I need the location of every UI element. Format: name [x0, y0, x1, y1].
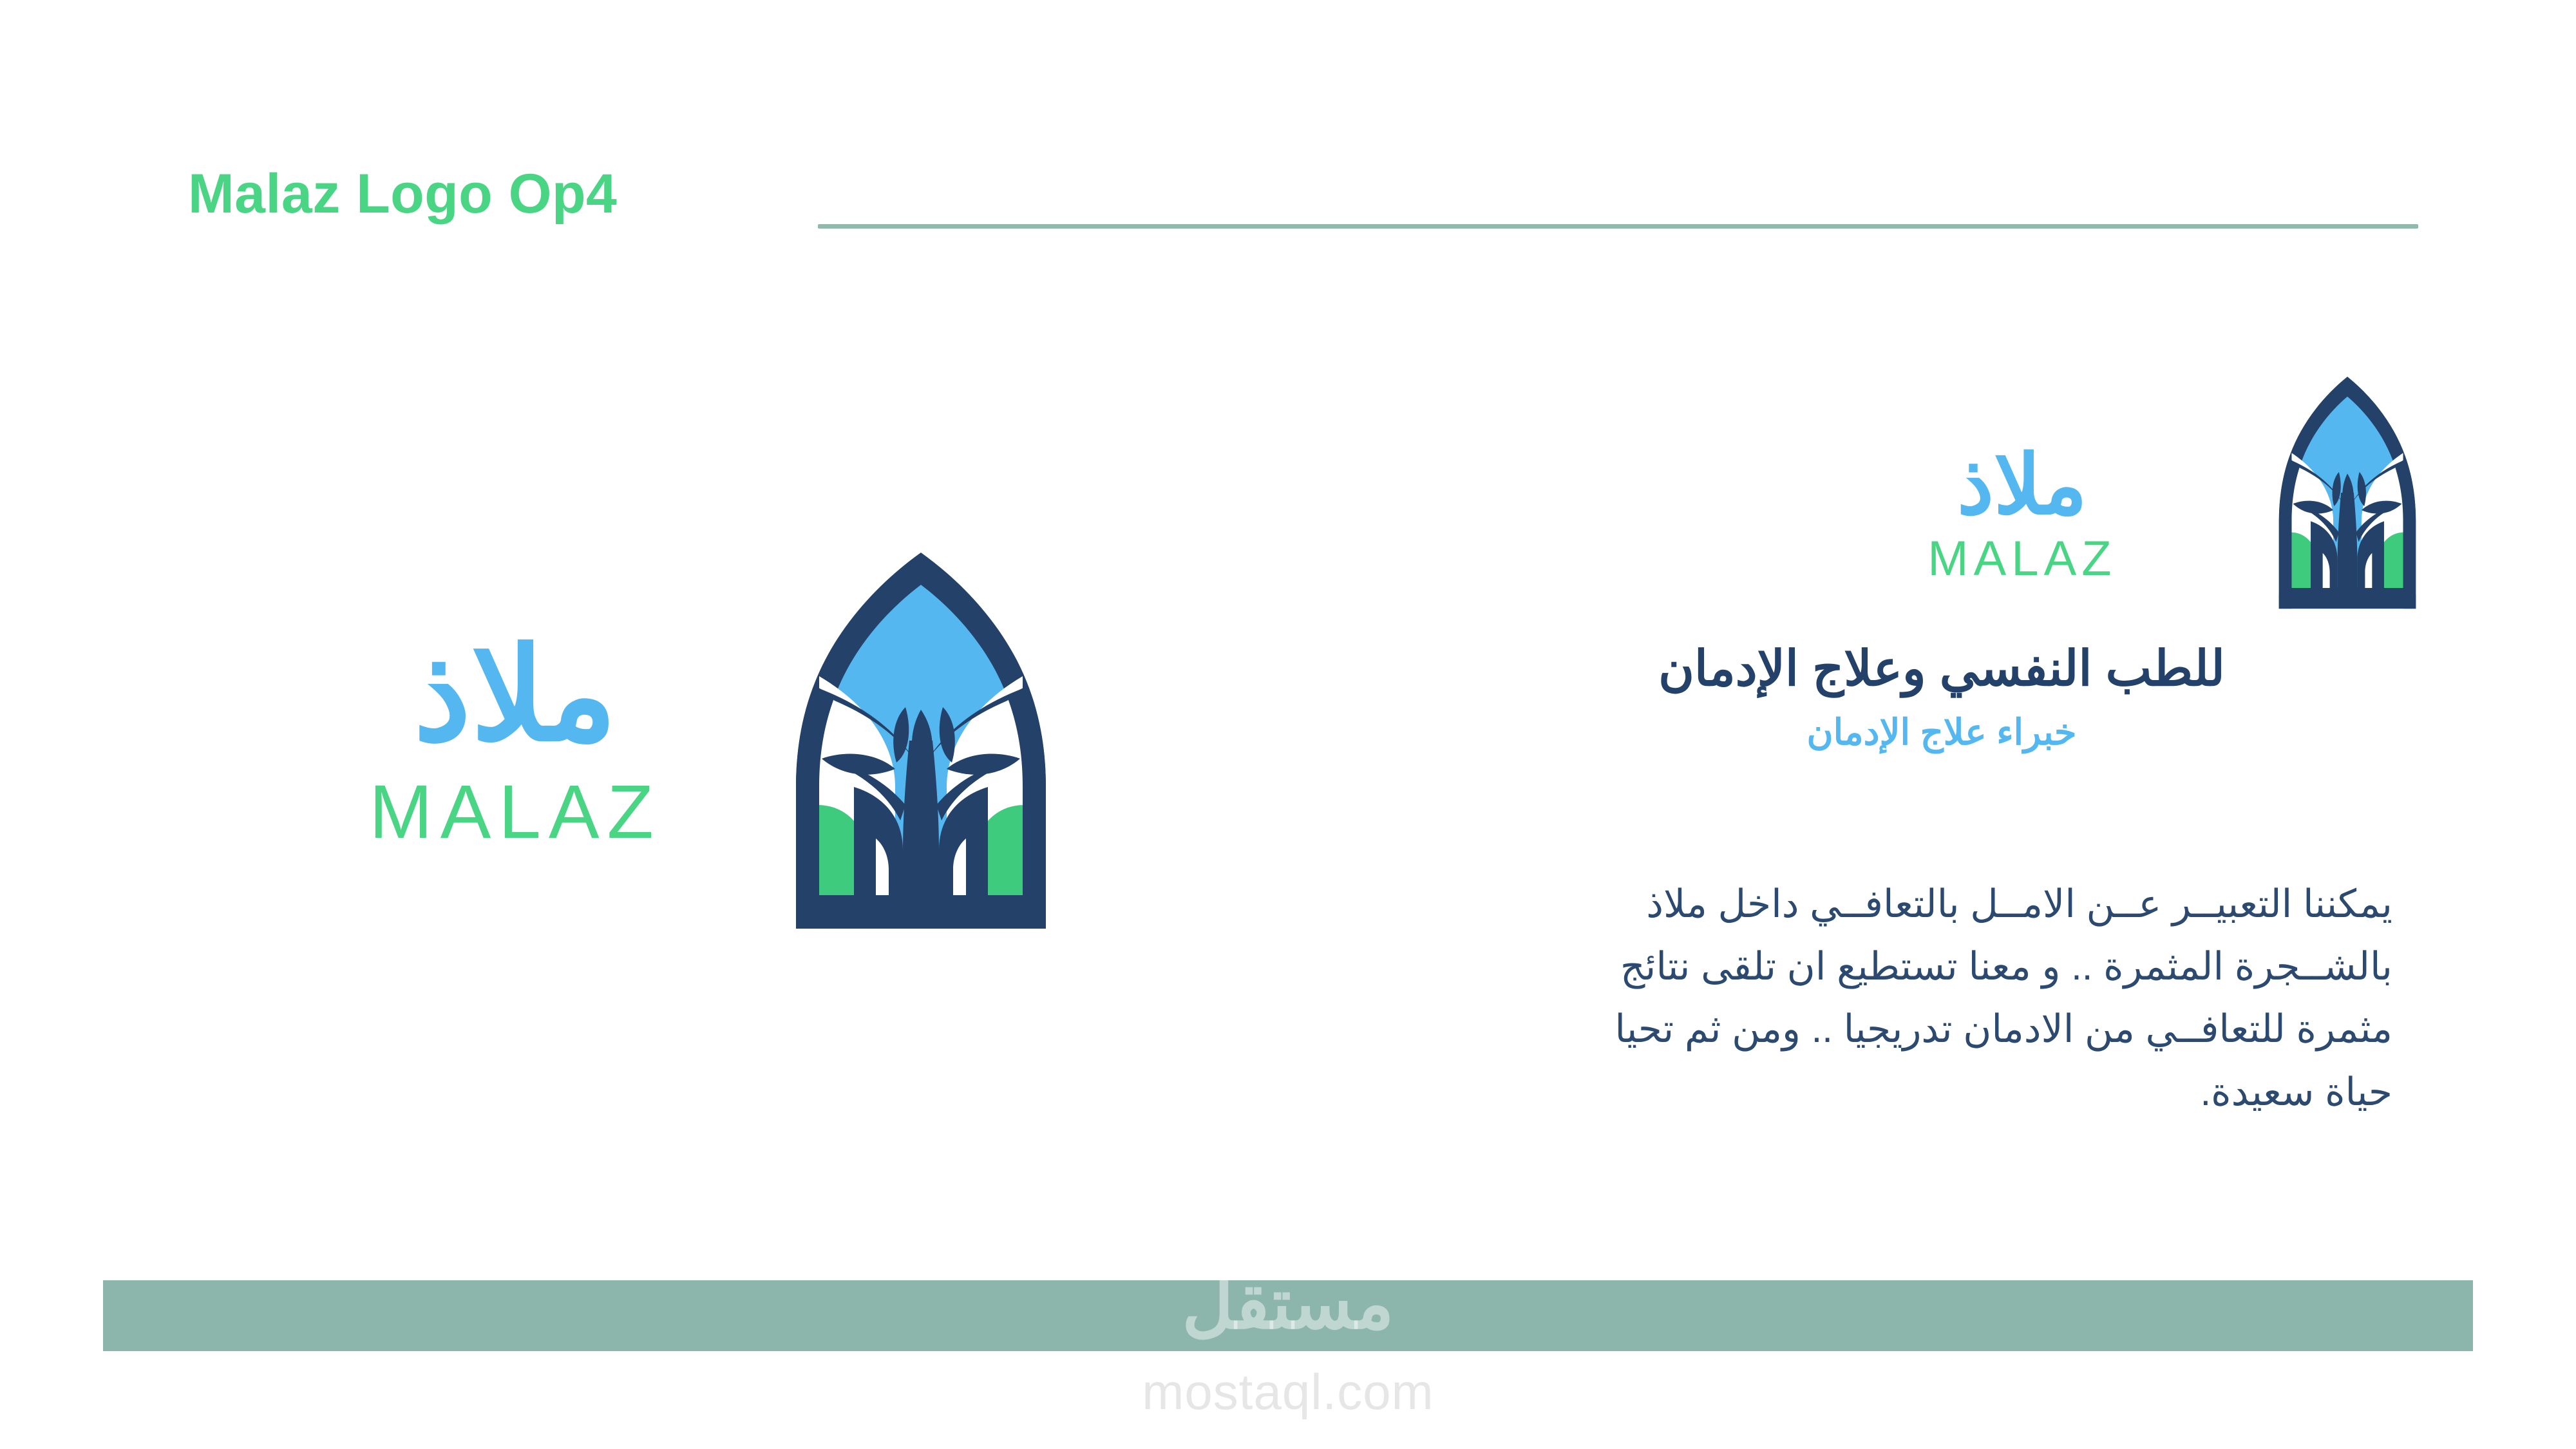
- secondary-logo-lockup: ملاذ MALAZ: [1481, 374, 2421, 625]
- page-title: Malaz Logo Op4: [188, 166, 617, 222]
- header-divider-rule: [818, 224, 2418, 229]
- body-line: مثمرة للتعافــي من الادمان تدريجيا .. وم…: [1513, 998, 2392, 1060]
- latin-wordmark-malaz: MALAZ: [1823, 535, 2222, 583]
- watermark-url: mostaql.com: [1142, 1367, 1434, 1417]
- body-line: يمكننا التعبيــر عــن الامــل بالتعافــي…: [1513, 873, 2392, 935]
- slide-header: Malaz Logo Op4: [0, 0, 2576, 270]
- arabic-wordmark-malaz: ملاذ: [1823, 444, 2222, 527]
- arched-window-tree-icon: [786, 547, 1056, 937]
- primary-wordmark-group: ملاذ MALAZ: [283, 631, 747, 850]
- secondary-logo-top-row: ملاذ MALAZ: [1481, 374, 2421, 625]
- footer-bar: [103, 1280, 2473, 1351]
- secondary-wordmark-group: ملاذ MALAZ: [1823, 444, 2222, 583]
- tagline-secondary: خبراء علاج الإدمان: [1491, 712, 2392, 753]
- body-line: حياة سعيدة.: [1513, 1061, 2392, 1123]
- slide-canvas: Malaz Logo Op4 ملاذ MALAZ: [0, 0, 2576, 1449]
- arched-window-tree-icon: [2273, 374, 2421, 615]
- body-line: بالشــجرة المثمرة .. و معنا تستطيع ان تل…: [1513, 935, 2392, 998]
- body-paragraph: يمكننا التعبيــر عــن الامــل بالتعافــي…: [1513, 873, 2392, 1123]
- primary-logo-lockup: ملاذ MALAZ: [277, 554, 1082, 940]
- arabic-wordmark-malaz: ملاذ: [283, 631, 747, 760]
- latin-wordmark-malaz: MALAZ: [283, 774, 747, 850]
- tagline-primary: للطب النفسي وعلاج الإدمان: [1491, 641, 2392, 697]
